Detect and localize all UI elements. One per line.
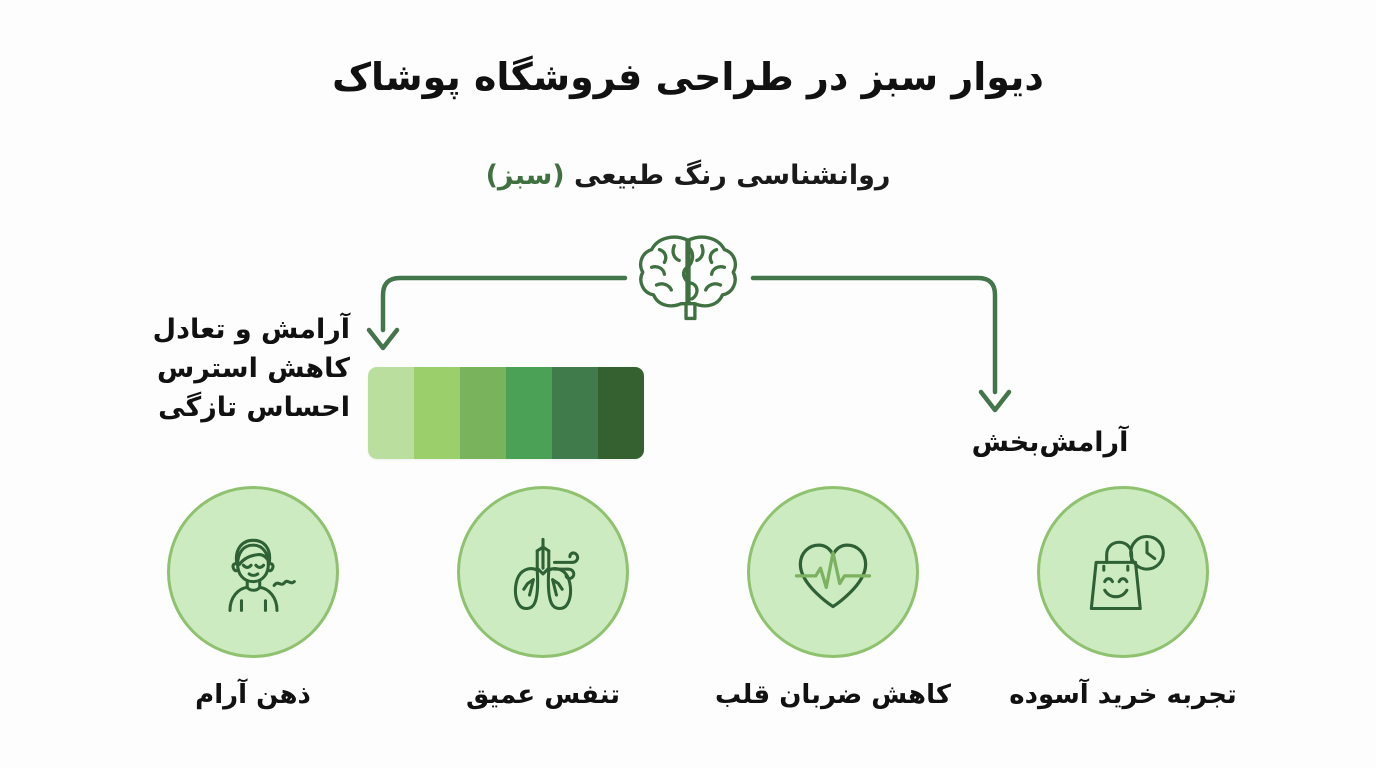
calm-person-icon: [167, 486, 339, 658]
left-arrow-head: [369, 330, 397, 348]
subtitle-accent-text: (سبز): [486, 160, 565, 191]
green-palette-swatch: [368, 367, 644, 459]
right-branch-label: آرامش‌بخش: [900, 427, 1200, 458]
heart-pulse-icon: [747, 486, 919, 658]
left-connector-line: [383, 278, 625, 330]
benefit-item-1: آرامش و تعادل: [100, 310, 350, 349]
benefits-list: آرامش و تعادل کاهش استرس احساس تازگی: [100, 310, 350, 427]
benefit-card-label: تنفس عمیق: [466, 680, 620, 710]
palette-chip-3: [506, 367, 552, 459]
benefit-item-3: احساس تازگی: [100, 388, 350, 427]
page-title: دیوار سبز در طراحی فروشگاه پوشاک: [0, 54, 1376, 102]
benefit-card-label: تجربه خرید آسوده: [1009, 680, 1236, 710]
brain-icon: [630, 228, 748, 326]
benefit-card-calm-mind: ذهن آرام: [167, 486, 339, 710]
page-subtitle: روانشناسی رنگ طبیعی (سبز): [0, 160, 1376, 191]
benefit-card-label: ذهن آرام: [195, 680, 311, 710]
palette-chip-1: [598, 367, 644, 459]
palette-chip-4: [460, 367, 506, 459]
palette-chip-2: [552, 367, 598, 459]
benefit-card-relaxed-shopping: تجربه خرید آسوده: [1037, 486, 1209, 710]
benefit-card-heart-rate: کاهش ضربان قلب: [747, 486, 919, 710]
palette-chip-6: [368, 367, 414, 459]
benefit-card-label: کاهش ضربان قلب: [715, 680, 951, 710]
infographic-canvas: دیوار سبز در طراحی فروشگاه پوشاک روانشنا…: [0, 0, 1376, 768]
shopping-bag-clock-icon: [1037, 486, 1209, 658]
subtitle-main-text: روانشناسی رنگ طبیعی: [565, 160, 891, 191]
lungs-icon: [457, 486, 629, 658]
palette-chip-5: [414, 367, 460, 459]
right-arrow-head: [981, 392, 1009, 410]
benefit-card-deep-breath: تنفس عمیق: [457, 486, 629, 710]
benefit-cards-row: ذهن آرام: [0, 486, 1376, 726]
benefit-item-2: کاهش استرس: [100, 349, 350, 388]
right-connector-line: [753, 278, 995, 392]
